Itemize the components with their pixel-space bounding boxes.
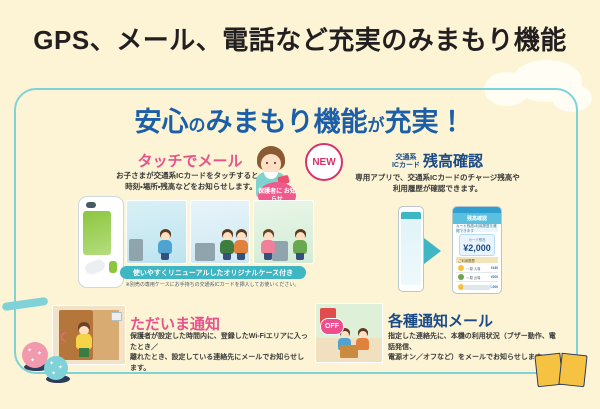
headline-part2: みまもり機能 bbox=[206, 107, 368, 137]
balance-heading: 残高確認 bbox=[423, 153, 483, 170]
kid-legs bbox=[264, 253, 272, 260]
device-speaker bbox=[86, 202, 96, 208]
history-row: ○○駅 入場 ¥180 bbox=[456, 264, 498, 273]
star-icon: ✦ bbox=[30, 357, 35, 364]
arrow-right-icon bbox=[424, 238, 441, 264]
headline-no: の bbox=[189, 116, 206, 135]
kid-legs bbox=[79, 348, 89, 357]
star-icon: ✦ bbox=[27, 347, 32, 354]
kid-legs bbox=[223, 253, 231, 260]
kid-body bbox=[158, 240, 172, 254]
kid-figure bbox=[292, 229, 308, 259]
tadaima-heading: ただいま通知 bbox=[130, 313, 310, 334]
phone-screen bbox=[401, 212, 421, 285]
kid-body bbox=[293, 240, 307, 254]
tadaima-body-line2: 離れたとき、設定している連絡先にメールでお知らせします。 bbox=[130, 353, 310, 374]
ic-card-tag-line1: 交通系 bbox=[395, 154, 416, 161]
kids-phone-case-illustration bbox=[78, 196, 124, 288]
gate-shape bbox=[129, 239, 143, 261]
star-icon: ✦ bbox=[37, 350, 42, 357]
history-dot-icon bbox=[458, 274, 464, 280]
tadaima-body-line1: 保護者が設定した時間内に、登録したWi-Fiエリアに入ったとき／ bbox=[130, 332, 310, 353]
headline-part1: 安心 bbox=[135, 107, 189, 137]
history-header: ご利用履歴 bbox=[456, 257, 498, 263]
case-caption-bar: 使いやすくリニューアルしたオリジナルケース付き bbox=[120, 266, 306, 279]
kid-body bbox=[220, 240, 234, 254]
kid-body bbox=[234, 240, 248, 254]
balance-body-line2: 利用履歴が確認できます。 bbox=[345, 183, 530, 194]
photo-station-staff bbox=[190, 200, 251, 264]
new-badge: NEW bbox=[305, 143, 343, 181]
phone-illustration bbox=[398, 206, 424, 292]
notify-mail-heading: 各種通知メール bbox=[388, 310, 578, 331]
star-icon: ✦ bbox=[49, 360, 54, 367]
headline-ga: が bbox=[368, 116, 385, 135]
power-off-badge: OFF bbox=[320, 318, 344, 335]
kid-legs bbox=[161, 253, 169, 260]
star-icon: ✦ bbox=[58, 364, 63, 371]
app-refresh-button[interactable] bbox=[463, 285, 491, 290]
book-decoration bbox=[536, 352, 586, 388]
photo-girl-touch bbox=[253, 200, 314, 264]
notify-mail-body-line1: 指定した連絡先に、本機の利用状況（ブザー動作、電話発信、 bbox=[388, 332, 560, 353]
history-row: ○○駅 出場 ¥200 bbox=[456, 273, 498, 282]
history-place: ○○駅 入場 bbox=[466, 266, 480, 271]
balance-body: 専用アプリで、交通系ICカードのチャージ残高や 利用履歴が確認できます。 bbox=[345, 172, 530, 194]
balance-amount: ¥2,000 bbox=[460, 242, 494, 254]
kid-body bbox=[76, 334, 92, 349]
kid-figure bbox=[356, 328, 370, 354]
balance-heading-group: 交通系 ICカード 残高確認 bbox=[350, 150, 525, 171]
history-place: ○○駅 出場 bbox=[466, 275, 480, 280]
case-disclaimer: ※別売の専用ケースにお手持ちの交通系ICカードを挿入してお使いください。 bbox=[105, 282, 320, 289]
teacher-eye-left bbox=[266, 162, 268, 164]
headline: 安心のみまもり機能が充実！ bbox=[0, 100, 600, 139]
infographic-page: GPS、メール、電話など充実のみまもり機能 安心のみまもり機能が充実！ タッチで… bbox=[0, 0, 600, 409]
wifi-router-icon bbox=[111, 312, 122, 321]
ball-decoration-teal: ✦ ✦ ✦ bbox=[44, 356, 68, 380]
wifi-signal-icon bbox=[61, 330, 73, 342]
kid-figure bbox=[233, 229, 249, 259]
ic-card-tag-line2: ICカード bbox=[392, 162, 420, 169]
device-strap bbox=[84, 258, 107, 276]
gate-shape bbox=[195, 243, 215, 261]
kid-figure bbox=[75, 322, 93, 358]
photo-ticket-gate bbox=[126, 200, 187, 264]
history-amount: ¥180 bbox=[491, 266, 498, 270]
history-amount: ¥200 bbox=[491, 275, 498, 279]
balance-body-line1: 専用アプリで、交通系ICカードのチャージ残高や bbox=[345, 172, 530, 183]
door-illustration bbox=[52, 305, 126, 365]
kid-legs bbox=[296, 253, 304, 260]
toy-box bbox=[340, 345, 358, 358]
teacher-eye-right bbox=[274, 162, 276, 164]
kid-figure bbox=[157, 229, 173, 259]
balance-app-screenshot: 残高確認 カード残高・利用履歴を確認できます カード残高 ¥2,000 ご利用履… bbox=[452, 206, 502, 294]
teacher-face bbox=[261, 154, 281, 174]
page-title: GPS、メール、電話など充実のみまもり機能 bbox=[0, 20, 600, 57]
kid-figure bbox=[260, 229, 276, 259]
headline-part3: 充実！ bbox=[385, 107, 466, 137]
kid-body bbox=[261, 240, 275, 254]
usage-photo-strip bbox=[126, 200, 314, 264]
phone-header-bar bbox=[401, 212, 421, 219]
balance-card: カード残高 ¥2,000 bbox=[459, 234, 495, 256]
book-page-right bbox=[558, 353, 587, 388]
device-button bbox=[109, 261, 117, 273]
tadaima-body: 保護者が設定した時間内に、登録したWi-Fiエリアに入ったとき／ 離れたとき、設… bbox=[130, 332, 310, 374]
device-screen bbox=[83, 211, 111, 255]
wifi-arc-outer bbox=[59, 330, 73, 344]
ball-shadow bbox=[46, 375, 70, 383]
star-icon: ✦ bbox=[51, 370, 56, 377]
app-title: 残高確認 bbox=[453, 213, 501, 224]
ic-card-tag: 交通系 ICカード bbox=[392, 154, 420, 170]
room-illustration: OFF bbox=[315, 303, 383, 363]
history-dot-icon bbox=[458, 265, 464, 271]
app-subtitle: カード残高・利用履歴を確認できます bbox=[456, 226, 498, 232]
kid-legs bbox=[237, 253, 245, 260]
